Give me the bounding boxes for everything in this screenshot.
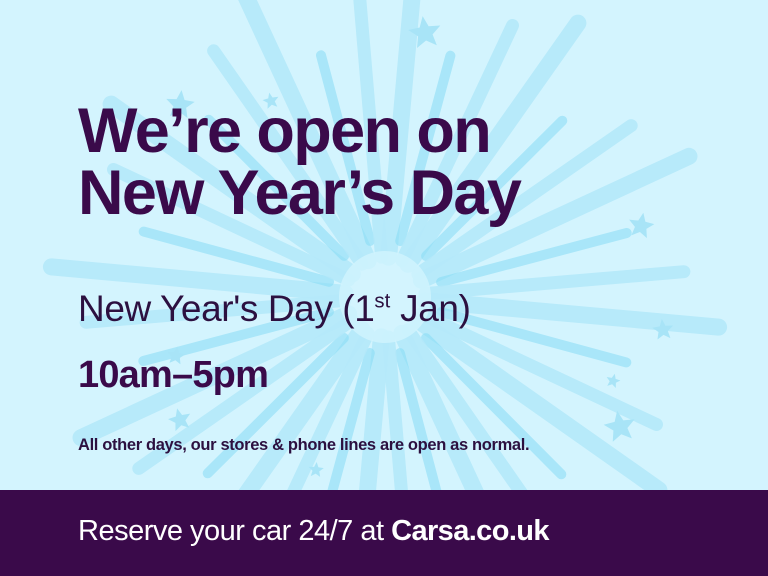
opening-date: New Year's Day (1st Jan) — [78, 288, 471, 330]
opening-date-suffix: Jan) — [390, 288, 470, 329]
footer-message: Reserve your car 24/7 at Carsa.co.uk — [78, 515, 549, 548]
brand-name[interactable]: Carsa.co.uk — [391, 515, 549, 547]
footer-bar: Reserve your car 24/7 at Carsa.co.uk — [0, 490, 768, 576]
headline-line-1: We’re open on — [78, 100, 520, 162]
poster-content: We’re open on New Year’s Day New Year's … — [0, 0, 768, 490]
promo-poster: We’re open on New Year’s Day New Year's … — [0, 0, 768, 576]
headline: We’re open on New Year’s Day — [78, 100, 520, 225]
footer-lead-text: Reserve your car 24/7 at — [78, 515, 391, 547]
opening-date-ordinal: st — [374, 291, 390, 313]
fineprint-note: All other days, our stores & phone lines… — [78, 436, 529, 455]
opening-hours: 10am–5pm — [78, 354, 268, 397]
headline-line-2: New Year’s Day — [78, 162, 520, 224]
opening-date-prefix: New Year's Day (1 — [78, 288, 374, 329]
